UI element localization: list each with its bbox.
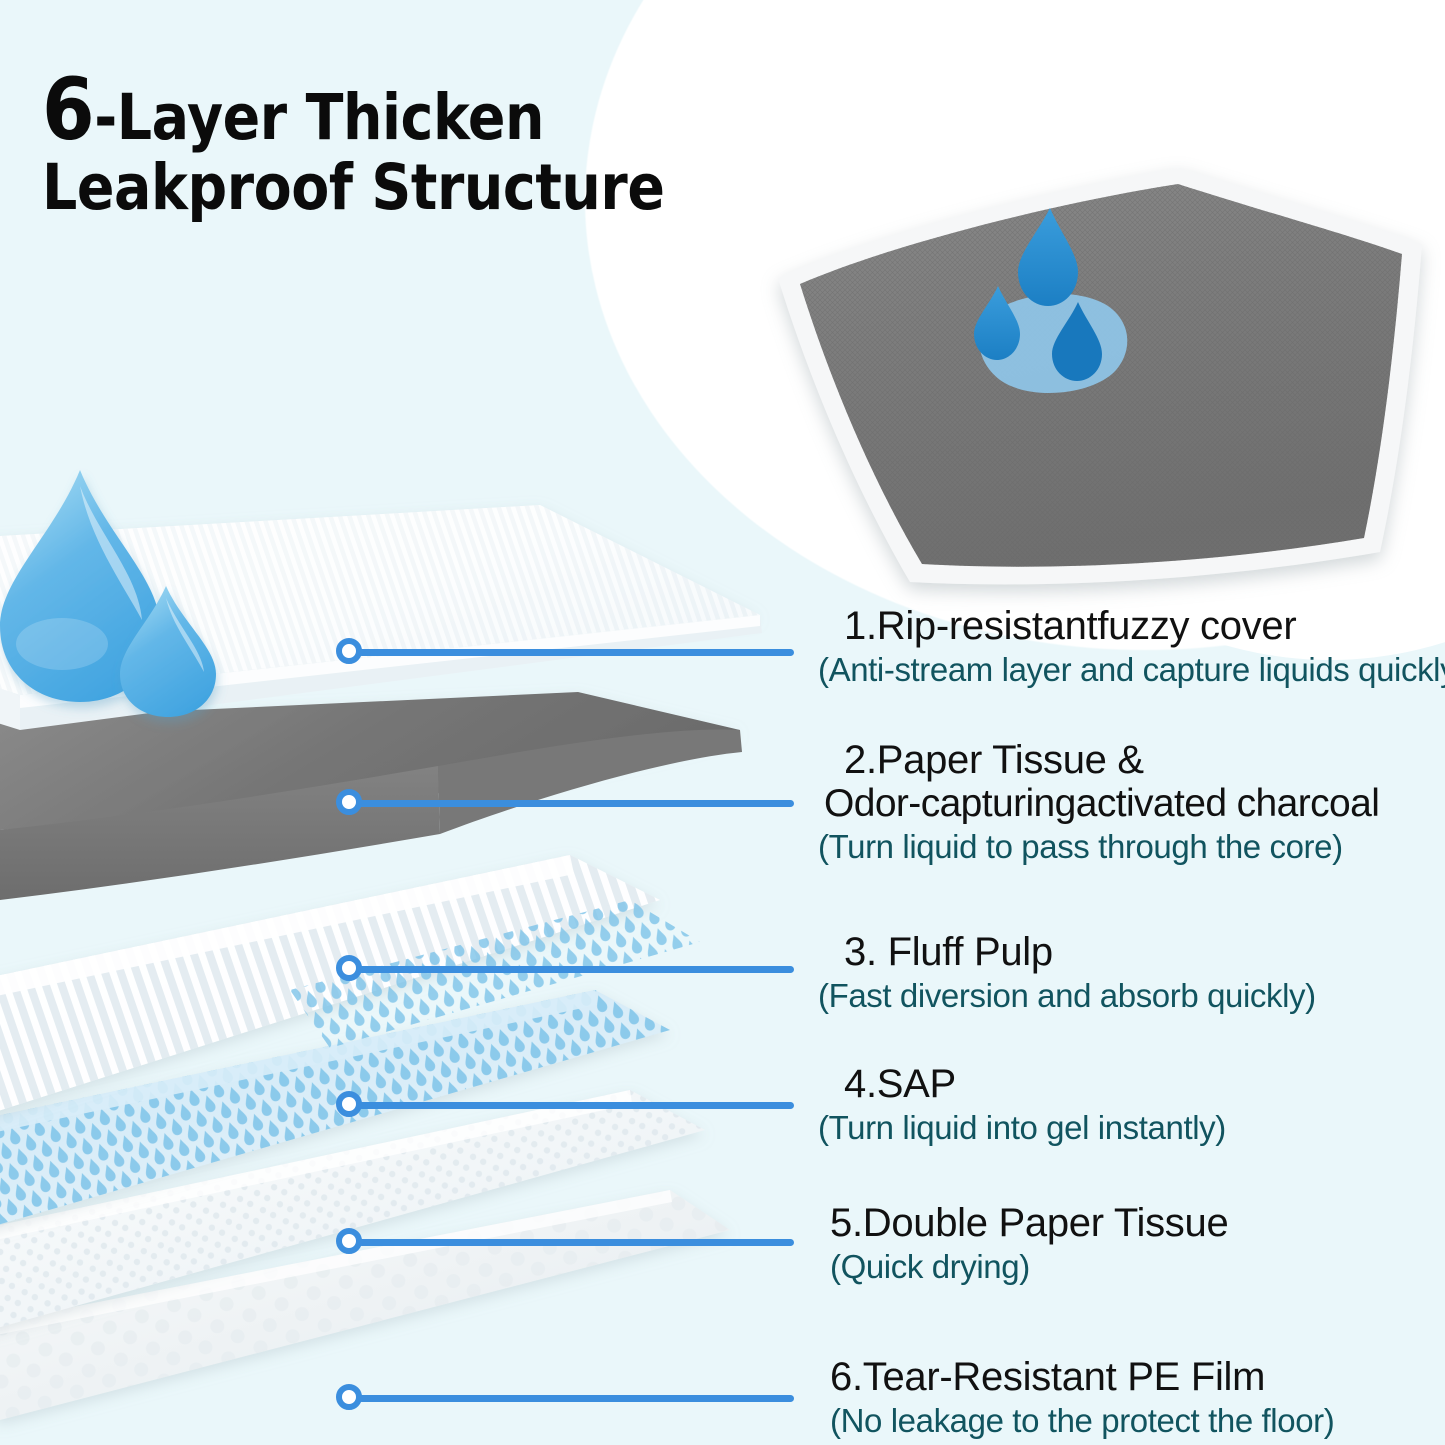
title-line-1: -Layer Thicken — [94, 81, 544, 154]
layer-callout-6: 6.Tear-Resistant PE Film (No leakage to … — [818, 1355, 1438, 1440]
infographic-canvas: 6-Layer Thicken Leakproof Structure 1.Ri… — [0, 0, 1445, 1445]
leader-bar — [358, 1239, 794, 1246]
layer-3-subtitle: (Fast diversion and absorb quickly) — [818, 977, 1438, 1015]
layer-3-title: 3. Fluff Pulp — [844, 930, 1438, 975]
layer-callout-1: 1.Rip-resistantfuzzy cover (Anti-stream … — [818, 604, 1438, 689]
leader-bar — [358, 1102, 794, 1109]
page-title: 6-Layer Thicken Leakproof Structure — [42, 72, 737, 221]
layer-2-title-line2: Odor-capturingactivated charcoal — [824, 783, 1438, 826]
layer-6-subtitle: (No leakage to the protect the floor) — [830, 1402, 1438, 1440]
charcoal-tissue-sheet — [0, 692, 742, 900]
layer-callout-2: 2.Paper Tissue & Odor-capturingactivated… — [818, 738, 1438, 866]
layer-1-title: 1.Rip-resistantfuzzy cover — [844, 604, 1438, 649]
product-photo-pee-pad — [760, 160, 1430, 590]
layer-5-subtitle: (Quick drying) — [830, 1248, 1438, 1286]
layer-1-subtitle: (Anti-stream layer and capture liquids q… — [818, 651, 1438, 689]
layer-2-title: 2.Paper Tissue & — [844, 738, 1438, 783]
leader-bar — [358, 966, 794, 973]
layer-callout-4: 4.SAP (Turn liquid into gel instantly) — [818, 1062, 1438, 1147]
exploded-layer-stack — [0, 430, 830, 1445]
layer-4-subtitle: (Turn liquid into gel instantly) — [818, 1109, 1438, 1147]
leader-bar — [358, 649, 794, 656]
leader-bar — [358, 1395, 794, 1402]
layer-6-title: 6.Tear-Resistant PE Film — [830, 1355, 1438, 1400]
title-line-2: Leakproof Structure — [42, 156, 737, 220]
layer-4-title: 4.SAP — [844, 1062, 1438, 1107]
layer-5-title: 5.Double Paper Tissue — [830, 1201, 1438, 1246]
layer-callout-3: 3. Fluff Pulp (Fast diversion and absorb… — [818, 930, 1438, 1015]
title-number: 6 — [42, 60, 94, 160]
layer-callout-5: 5.Double Paper Tissue (Quick drying) — [818, 1201, 1438, 1286]
layer-2-subtitle: (Turn liquid to pass through the core) — [818, 828, 1438, 866]
leader-bar — [358, 800, 794, 807]
